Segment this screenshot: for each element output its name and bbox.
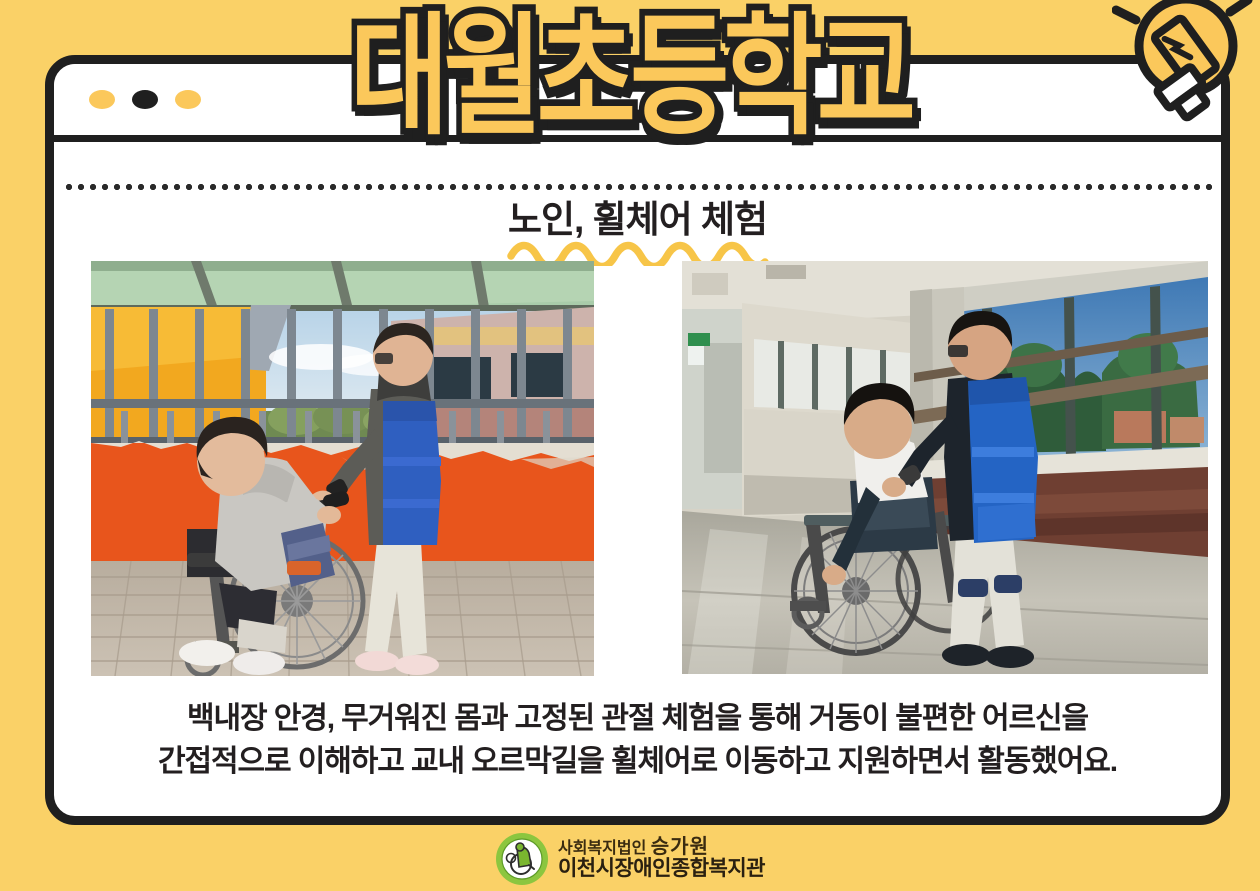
footer-text: 사회복지법인 승가원 이천시장애인종합복지관 (558, 837, 765, 881)
window-title-bar (54, 64, 1221, 142)
dotted-divider (63, 184, 1212, 190)
footer: 사회복지법인 승가원 이천시장애인종합복지관 (0, 832, 1260, 886)
subtitle-block: 노인, 휠체어 체험 (54, 201, 1221, 266)
main-card: 노인, 휠체어 체험 (45, 55, 1230, 825)
footer-org-brand: 승가원 (651, 836, 709, 858)
dot-black-middle-icon (132, 90, 158, 109)
footer-org-prefix-line: 사회복지법인 승가원 (558, 837, 765, 859)
footer-org-prefix: 사회복지법인 (558, 840, 646, 857)
footer-org-name: 이천시장애인종합복지관 (558, 858, 765, 881)
photo-outdoor-corridor-wheelchair (91, 261, 594, 676)
caption-text: 백내장 안경, 무거워진 몸과 고정된 관절 체험을 통해 거동이 불편한 어르… (76, 698, 1199, 783)
wheelchair-circle-logo-icon (495, 832, 549, 886)
caption-line-2: 간접적으로 이해하고 교내 오르막길을 휠체어로 이동하고 지원하면서 활동했어… (76, 741, 1199, 784)
window-control-dots (89, 90, 201, 109)
caption-line-1: 백내장 안경, 무거워진 몸과 고정된 관절 체험을 통해 거동이 불편한 어르… (76, 698, 1199, 741)
dot-yellow-left-icon (89, 90, 115, 109)
subtitle-text: 노인, 휠체어 체험 (508, 201, 767, 238)
photo-gallery (91, 261, 1208, 676)
photo-indoor-corridor-wheelchair (682, 261, 1208, 674)
dot-yellow-right-icon (175, 90, 201, 109)
